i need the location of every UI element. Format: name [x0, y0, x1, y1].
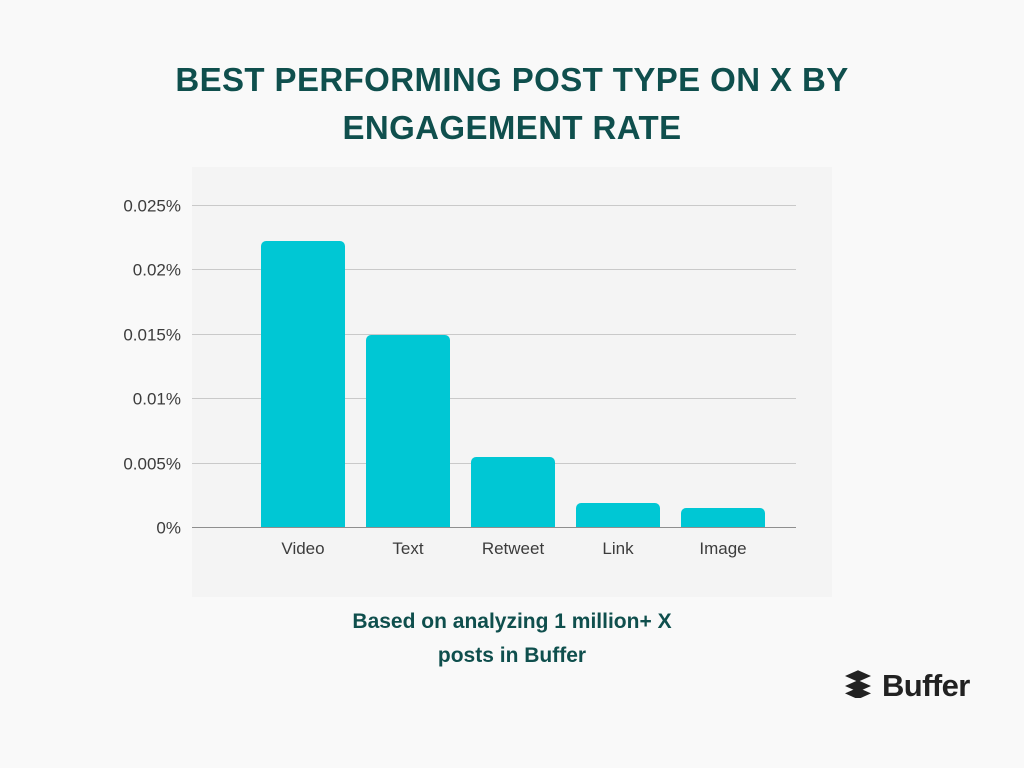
bar-slot: [681, 205, 765, 527]
bar[interactable]: [261, 241, 345, 527]
bar[interactable]: [366, 335, 450, 527]
bar-slot: [261, 205, 345, 527]
bar-series: [261, 205, 796, 527]
page-title-line-1: BEST PERFORMING POST TYPE ON X BY: [96, 56, 928, 104]
bar[interactable]: [471, 457, 555, 527]
x-axis-category-label: Text: [366, 539, 450, 559]
y-axis-tick-label: 0.01%: [133, 391, 181, 408]
buffer-logo: Buffer: [843, 668, 970, 703]
bar[interactable]: [681, 508, 765, 527]
page-title: BEST PERFORMING POST TYPE ON X BY ENGAGE…: [96, 56, 928, 152]
y-axis-tick-label: 0.02%: [133, 262, 181, 279]
chart-caption-line-2: posts in Buffer: [212, 639, 812, 673]
x-axis-category-label: Image: [681, 539, 765, 559]
x-axis-category-label: Video: [261, 539, 345, 559]
infographic-canvas: BEST PERFORMING POST TYPE ON X BY ENGAGE…: [0, 0, 1024, 768]
chart-panel: 0.025%0.02%0.015%0.01%0.005%0% VideoText…: [192, 167, 832, 597]
page-title-line-2: ENGAGEMENT RATE: [96, 104, 928, 152]
x-axis-baseline: 0%: [192, 527, 796, 528]
y-axis-tick-label: 0%: [156, 520, 181, 537]
bar-chart-plot-area: 0.025%0.02%0.015%0.01%0.005%0% VideoText…: [192, 167, 832, 597]
x-axis-category-label: Retweet: [471, 539, 555, 559]
y-axis-tick-label: 0.005%: [123, 455, 181, 472]
bar-slot: [576, 205, 660, 527]
chart-caption: Based on analyzing 1 million+ X posts in…: [212, 605, 812, 673]
y-axis-tick-label: 0.015%: [123, 326, 181, 343]
buffer-stacked-layers-icon: [843, 668, 873, 703]
y-axis-tick-label: 0.025%: [123, 198, 181, 215]
bar-slot: [471, 205, 555, 527]
bar[interactable]: [576, 503, 660, 527]
chart-caption-line-1: Based on analyzing 1 million+ X: [212, 605, 812, 639]
buffer-wordmark: Buffer: [882, 670, 970, 701]
x-axis-category-label: Link: [576, 539, 660, 559]
x-axis-labels: VideoTextRetweetLinkImage: [261, 539, 796, 559]
bar-slot: [366, 205, 450, 527]
